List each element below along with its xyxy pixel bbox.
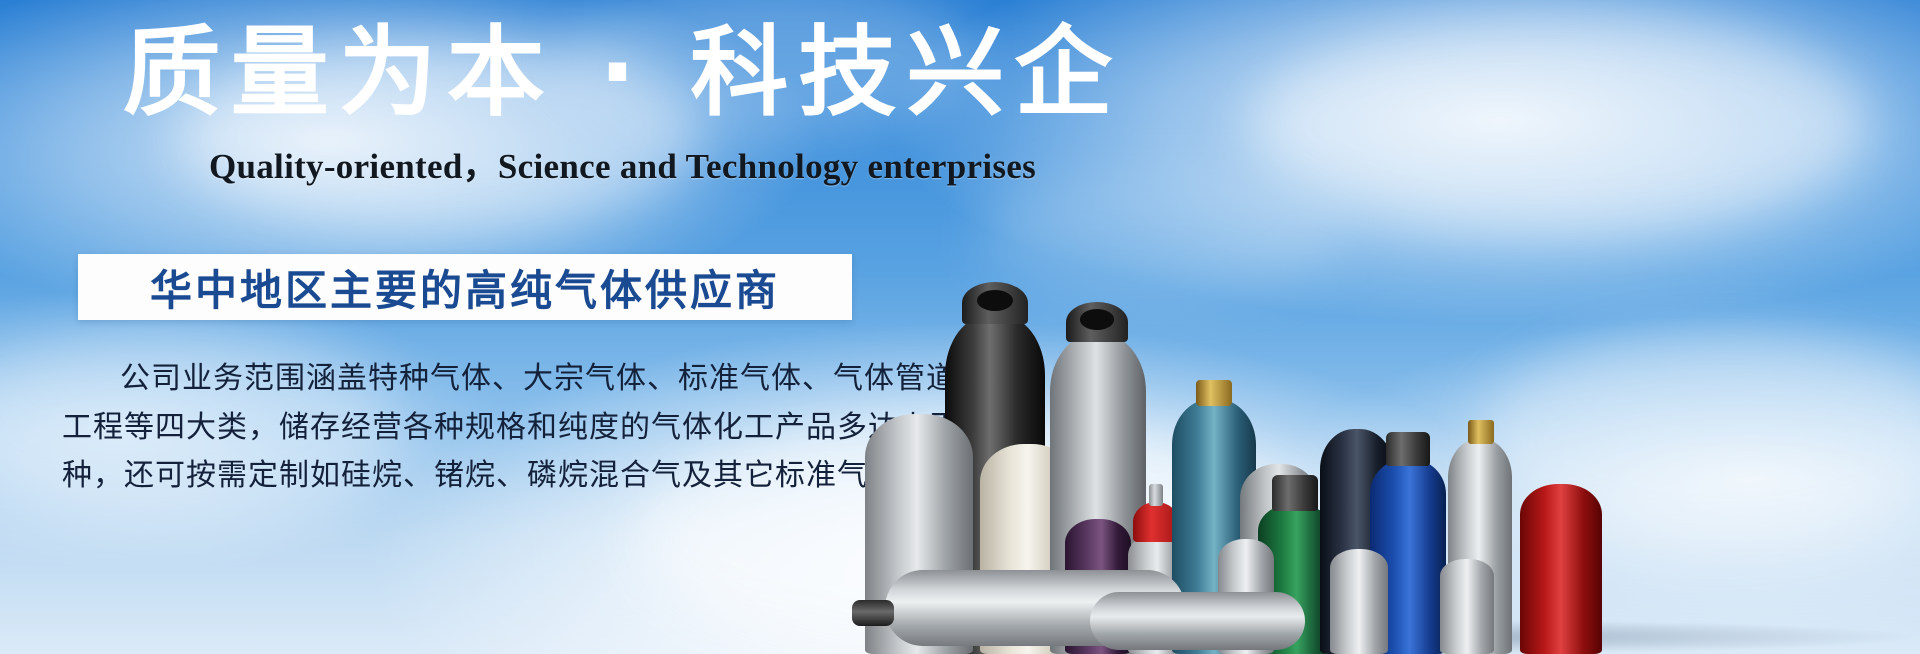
promo-banner: 质量为本 · 科技兴企 Quality-oriented，Science and… <box>0 0 1920 654</box>
cylinder-cap-green <box>1272 475 1318 511</box>
highlight-box: 华中地区主要的高纯气体供应商 <box>78 254 852 320</box>
cylinder-horizontal-valve <box>852 600 894 626</box>
banner-subheadline-english: Quality-oriented，Science and Technology … <box>0 138 1245 189</box>
description-line-3: 种，还可按需定制如硅烷、锗烷、磷烷混合气及其它标准气体。 <box>62 452 862 501</box>
banner-headline: 质量为本 · 科技兴企 <box>0 18 1245 130</box>
cylinder-cap-grey-tall <box>1066 302 1128 342</box>
banner-description: 公司业务范围涵盖特种气体、大宗气体、标准气体、气体管道 工程等四大类，储存经营各… <box>62 355 862 501</box>
cylinder-cap-black-tall <box>962 282 1028 324</box>
cylinder-valve <box>1149 484 1163 506</box>
gas-cylinder-product-group <box>900 224 1920 654</box>
cylinder-valve-brass <box>1196 380 1232 406</box>
cylinder-valve-brass-2 <box>1468 420 1494 444</box>
cylinder-cap-blue <box>1386 432 1430 466</box>
description-line-2: 工程等四大类，储存经营各种规格和纯度的气体化工产品多达上百 <box>62 404 862 453</box>
cylinder-horizontal-2 <box>1090 592 1305 650</box>
highlight-box-text: 华中地区主要的高纯气体供应商 <box>150 257 780 318</box>
cloud-decoration <box>1250 20 1870 230</box>
cylinder-aluminium-small-b <box>1330 549 1388 654</box>
cylinder-aluminium-small-c <box>1440 559 1494 654</box>
description-line-1: 公司业务范围涵盖特种气体、大宗气体、标准气体、气体管道 <box>62 355 862 404</box>
cylinder-red <box>1520 484 1602 654</box>
